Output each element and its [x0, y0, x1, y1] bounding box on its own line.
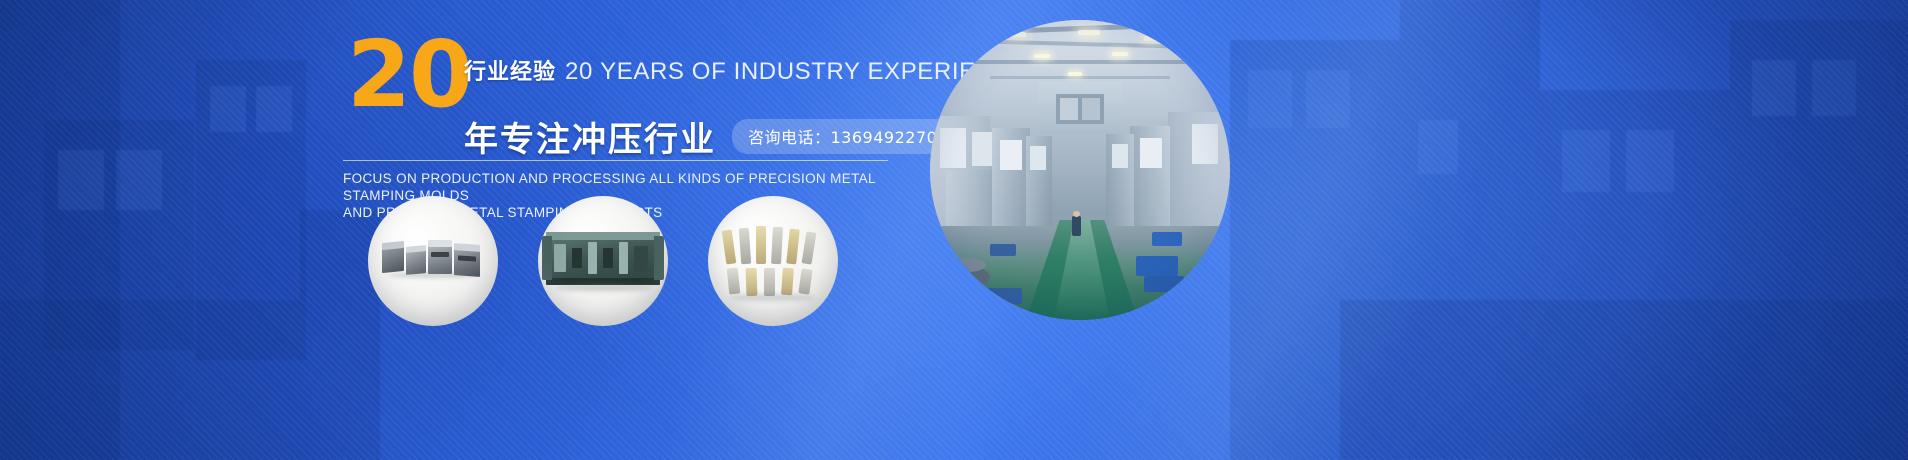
photo-inner-shadow	[538, 196, 668, 326]
divider-line	[343, 160, 888, 161]
product-photo-connector-shells	[368, 196, 498, 326]
years-number: 20	[347, 32, 471, 118]
photo-inner-shadow	[368, 196, 498, 326]
promo-banner: 20 行业经验20 YEARS OF INDUSTRY EXPERIENCE 年…	[0, 0, 1908, 460]
tagline-row: 年专注冲压行业 咨询电话：13694922701	[464, 112, 964, 161]
photo-inner-shadow	[708, 196, 838, 326]
product-photo-stamping-die	[538, 196, 668, 326]
tagline-cn: 年专注冲压行业	[464, 112, 716, 161]
experience-label-cn: 行业经验	[464, 60, 556, 85]
product-photo-pin-terminals	[708, 196, 838, 326]
photo-inner-shadow	[930, 20, 1230, 320]
factory-workshop-photo	[930, 20, 1230, 320]
